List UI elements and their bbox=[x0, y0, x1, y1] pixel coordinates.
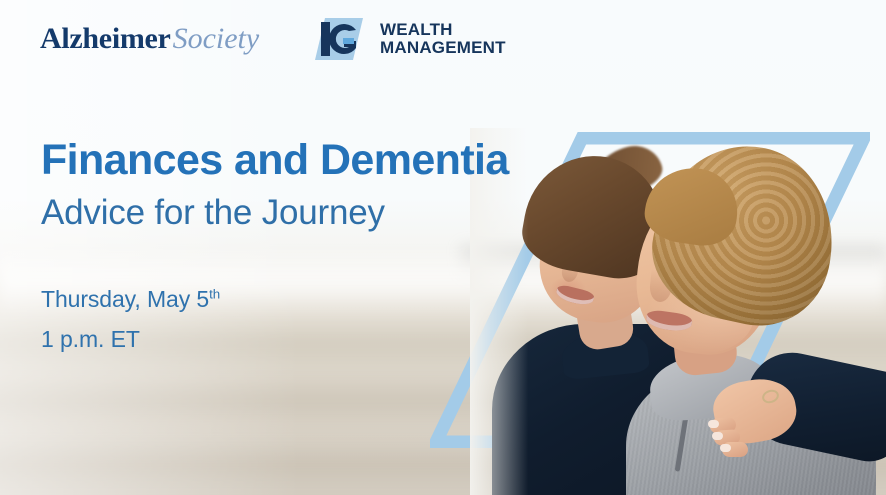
fingernail bbox=[708, 420, 719, 428]
webinar-promo-banner: AlzheimerSociety WEALTH MANAGEMENT Finan… bbox=[0, 0, 886, 495]
page-subtitle: Advice for the Journey bbox=[41, 192, 561, 233]
alzheimer-society-logo-script: Society bbox=[173, 22, 260, 55]
ig-wealth-management-logo: WEALTH MANAGEMENT bbox=[313, 16, 506, 62]
event-time: 1 p.m. ET bbox=[41, 328, 220, 351]
ig-monogram-icon bbox=[313, 16, 371, 62]
page-title: Finances and Dementia bbox=[41, 138, 561, 184]
logo-bar: AlzheimerSociety WEALTH MANAGEMENT bbox=[0, 0, 886, 80]
event-date-text: Thursday, May 5 bbox=[41, 286, 209, 312]
ig-wordmark-line1: WEALTH bbox=[380, 21, 506, 39]
fingernail bbox=[712, 432, 723, 440]
event-details-block: Thursday, May 5th 1 p.m. ET bbox=[41, 288, 220, 351]
alzheimer-society-logo: AlzheimerSociety bbox=[40, 22, 259, 56]
fingernail bbox=[720, 444, 731, 452]
alzheimer-society-logo-word: Alzheimer bbox=[40, 22, 171, 55]
ig-wordmark-line2: MANAGEMENT bbox=[380, 39, 506, 57]
event-date: Thursday, May 5th bbox=[41, 288, 220, 311]
headline-block: Finances and Dementia Advice for the Jou… bbox=[41, 138, 561, 233]
event-date-ordinal: th bbox=[209, 286, 220, 301]
ig-wordmark: WEALTH MANAGEMENT bbox=[380, 21, 506, 57]
